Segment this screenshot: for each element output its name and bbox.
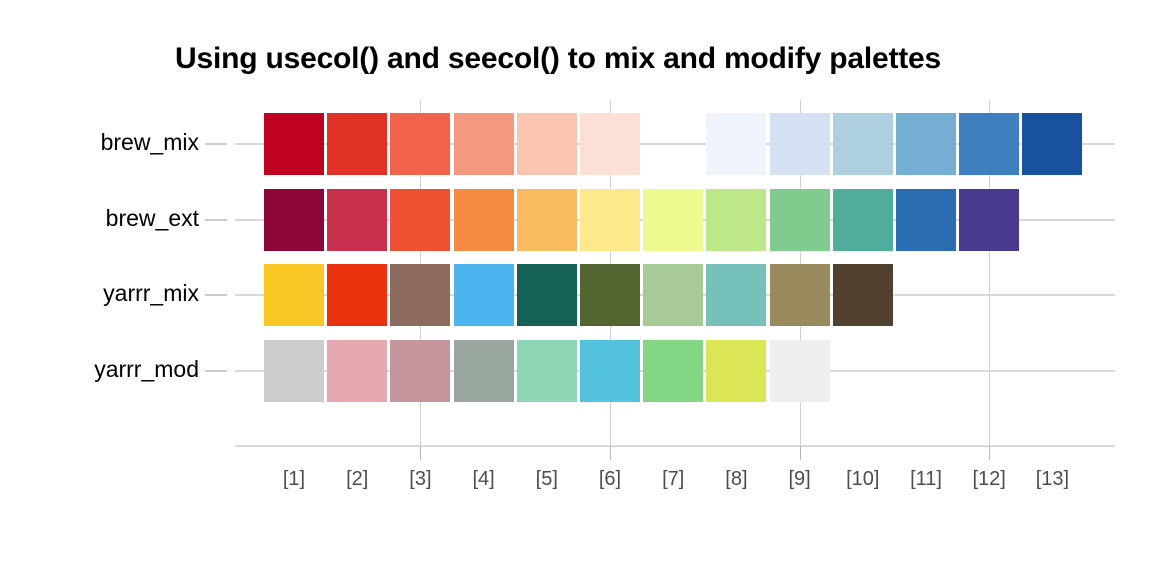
color-swatch [833,113,893,175]
color-swatch [454,340,514,402]
color-swatch [517,189,577,251]
x-axis-label-5: [5] [512,468,582,491]
palette-row [235,340,1115,402]
color-swatch [833,189,893,251]
x-axis-tick [989,446,990,460]
color-swatch [770,113,830,175]
x-axis-label-13: [13] [1017,468,1087,491]
y-axis-tick [205,370,227,372]
color-swatch [454,113,514,175]
color-swatch [896,189,956,251]
y-axis-tick [205,294,227,296]
color-swatch [264,340,324,402]
palette-row [235,264,1115,326]
color-swatch [390,264,450,326]
x-axis-label-9: [9] [765,468,835,491]
color-swatch [264,113,324,175]
color-swatch [706,189,766,251]
y-axis-label-brew-mix: brew_mix [0,129,199,156]
page-title: Using usecol() and seecol() to mix and m… [175,38,1152,80]
palette-chart: Using usecol() and seecol() to mix and m… [0,0,1152,576]
y-axis-label-brew-ext: brew_ext [0,205,199,232]
color-swatch [327,189,387,251]
palette-row [235,189,1115,251]
y-axis-tick [205,219,227,221]
x-axis-label-10: [10] [828,468,898,491]
color-swatch [833,264,893,326]
color-swatch [517,113,577,175]
x-axis-tick [420,446,421,460]
y-axis-tick [205,143,227,145]
color-swatch [390,113,450,175]
color-swatch [580,113,640,175]
color-swatch [517,340,577,402]
plot-panel [235,100,1115,446]
color-swatch [770,264,830,326]
x-axis-label-1: [1] [259,468,329,491]
color-swatch [580,340,640,402]
color-swatch [580,264,640,326]
color-swatch [327,264,387,326]
x-axis-tick [800,446,801,460]
color-swatch [643,264,703,326]
color-swatch [643,340,703,402]
color-swatch [517,264,577,326]
color-swatch [580,189,640,251]
color-swatch [706,113,766,175]
x-axis-label-12: [12] [954,468,1024,491]
palette-row [235,113,1115,175]
color-swatch [643,189,703,251]
color-swatch [706,340,766,402]
x-axis-label-8: [8] [701,468,771,491]
color-swatch [454,189,514,251]
y-axis-label-yarrr-mix: yarrr_mix [0,280,199,307]
x-axis-tick [610,446,611,460]
color-swatch [327,340,387,402]
x-axis-label-6: [6] [575,468,645,491]
x-axis-line [235,445,1115,447]
x-axis-label-7: [7] [638,468,708,491]
color-swatch [264,264,324,326]
color-swatch [959,189,1019,251]
color-swatch [706,264,766,326]
x-axis-label-2: [2] [322,468,392,491]
y-axis-label-yarrr-mod: yarrr_mod [0,356,199,383]
color-swatch [896,113,956,175]
color-swatch [1022,113,1082,175]
x-axis-label-11: [11] [891,468,961,491]
color-swatch [959,113,1019,175]
color-swatch [327,113,387,175]
x-axis-label-4: [4] [449,468,519,491]
color-swatch [454,264,514,326]
color-swatch [390,340,450,402]
color-swatch [770,340,830,402]
x-axis-label-3: [3] [385,468,455,491]
color-swatch [390,189,450,251]
color-swatch [770,189,830,251]
color-swatch [264,189,324,251]
